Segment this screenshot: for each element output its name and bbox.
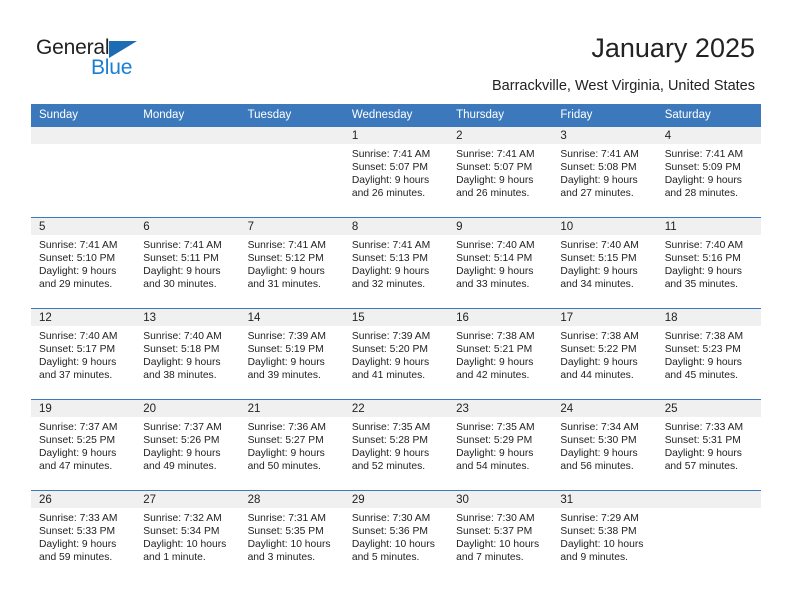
- calendar-cell: 8Sunrise: 7:41 AMSunset: 5:13 PMDaylight…: [344, 218, 448, 309]
- sunset-text: Sunset: 5:22 PM: [560, 343, 650, 356]
- day-cell[interactable]: 9Sunrise: 7:40 AMSunset: 5:14 PMDaylight…: [448, 218, 552, 308]
- logo-text-blue: Blue: [91, 56, 132, 80]
- daylight-text: Daylight: 9 hours: [352, 265, 442, 278]
- calendar-cell: 15Sunrise: 7:39 AMSunset: 5:20 PMDayligh…: [344, 309, 448, 400]
- day-number: 19: [31, 400, 135, 417]
- sunrise-text: Sunrise: 7:32 AM: [143, 512, 233, 525]
- calendar-cell: [240, 127, 344, 218]
- day-number: [240, 127, 344, 144]
- daylight-text-cont: and 34 minutes.: [560, 278, 650, 291]
- calendar-week-row: 19Sunrise: 7:37 AMSunset: 5:25 PMDayligh…: [31, 400, 761, 491]
- daylight-text: Daylight: 9 hours: [143, 265, 233, 278]
- day-cell-empty: [135, 127, 239, 217]
- weekday-header-thursday: Thursday: [448, 104, 552, 127]
- day-number: 15: [344, 309, 448, 326]
- day-cell-empty: [31, 127, 135, 217]
- weekday-header-monday: Monday: [135, 104, 239, 127]
- day-sun-info: Sunrise: 7:37 AMSunset: 5:25 PMDaylight:…: [31, 417, 135, 473]
- day-number: 3: [552, 127, 656, 144]
- daylight-text-cont: and 5 minutes.: [352, 551, 442, 564]
- daylight-text: Daylight: 9 hours: [248, 356, 338, 369]
- day-number: 9: [448, 218, 552, 235]
- sunset-text: Sunset: 5:10 PM: [39, 252, 129, 265]
- weekday-header-saturday: Saturday: [657, 104, 761, 127]
- day-sun-info: Sunrise: 7:30 AMSunset: 5:36 PMDaylight:…: [344, 508, 448, 564]
- day-sun-info: Sunrise: 7:33 AMSunset: 5:33 PMDaylight:…: [31, 508, 135, 564]
- sunset-text: Sunset: 5:12 PM: [248, 252, 338, 265]
- sunrise-text: Sunrise: 7:37 AM: [143, 421, 233, 434]
- daylight-text: Daylight: 9 hours: [665, 174, 755, 187]
- daylight-text-cont: and 47 minutes.: [39, 460, 129, 473]
- daylight-text-cont: and 30 minutes.: [143, 278, 233, 291]
- sunset-text: Sunset: 5:20 PM: [352, 343, 442, 356]
- day-cell[interactable]: 19Sunrise: 7:37 AMSunset: 5:25 PMDayligh…: [31, 400, 135, 490]
- day-number: 16: [448, 309, 552, 326]
- day-cell[interactable]: 7Sunrise: 7:41 AMSunset: 5:12 PMDaylight…: [240, 218, 344, 308]
- sunrise-text: Sunrise: 7:33 AM: [39, 512, 129, 525]
- daylight-text-cont: and 45 minutes.: [665, 369, 755, 382]
- calendar-cell: 31Sunrise: 7:29 AMSunset: 5:38 PMDayligh…: [552, 491, 656, 582]
- day-sun-info: Sunrise: 7:41 AMSunset: 5:07 PMDaylight:…: [448, 144, 552, 200]
- day-number: 13: [135, 309, 239, 326]
- day-sun-info: Sunrise: 7:41 AMSunset: 5:13 PMDaylight:…: [344, 235, 448, 291]
- sunrise-text: Sunrise: 7:40 AM: [143, 330, 233, 343]
- day-cell[interactable]: 30Sunrise: 7:30 AMSunset: 5:37 PMDayligh…: [448, 491, 552, 581]
- daylight-text-cont: and 31 minutes.: [248, 278, 338, 291]
- sunset-text: Sunset: 5:25 PM: [39, 434, 129, 447]
- weekday-header-wednesday: Wednesday: [344, 104, 448, 127]
- day-number: 11: [657, 218, 761, 235]
- day-number: 28: [240, 491, 344, 508]
- day-number: 8: [344, 218, 448, 235]
- sunrise-text: Sunrise: 7:35 AM: [456, 421, 546, 434]
- calendar-cell: 14Sunrise: 7:39 AMSunset: 5:19 PMDayligh…: [240, 309, 344, 400]
- day-sun-info: Sunrise: 7:32 AMSunset: 5:34 PMDaylight:…: [135, 508, 239, 564]
- daylight-text-cont: and 33 minutes.: [456, 278, 546, 291]
- day-cell[interactable]: 14Sunrise: 7:39 AMSunset: 5:19 PMDayligh…: [240, 309, 344, 399]
- sunset-text: Sunset: 5:37 PM: [456, 525, 546, 538]
- calendar-cell: 3Sunrise: 7:41 AMSunset: 5:08 PMDaylight…: [552, 127, 656, 218]
- day-sun-info: Sunrise: 7:38 AMSunset: 5:23 PMDaylight:…: [657, 326, 761, 382]
- sunrise-text: Sunrise: 7:37 AM: [39, 421, 129, 434]
- day-cell[interactable]: 1Sunrise: 7:41 AMSunset: 5:07 PMDaylight…: [344, 127, 448, 217]
- calendar-cell: 20Sunrise: 7:37 AMSunset: 5:26 PMDayligh…: [135, 400, 239, 491]
- day-cell[interactable]: 26Sunrise: 7:33 AMSunset: 5:33 PMDayligh…: [31, 491, 135, 581]
- daylight-text: Daylight: 10 hours: [143, 538, 233, 551]
- day-sun-info: Sunrise: 7:39 AMSunset: 5:19 PMDaylight:…: [240, 326, 344, 382]
- sunrise-sunset-calendar-table: Sunday Monday Tuesday Wednesday Thursday…: [31, 104, 761, 581]
- calendar-cell: 9Sunrise: 7:40 AMSunset: 5:14 PMDaylight…: [448, 218, 552, 309]
- day-cell[interactable]: 4Sunrise: 7:41 AMSunset: 5:09 PMDaylight…: [657, 127, 761, 217]
- daylight-text: Daylight: 9 hours: [560, 356, 650, 369]
- sunrise-text: Sunrise: 7:41 AM: [352, 148, 442, 161]
- sunrise-text: Sunrise: 7:36 AM: [248, 421, 338, 434]
- daylight-text-cont: and 29 minutes.: [39, 278, 129, 291]
- calendar-cell: 28Sunrise: 7:31 AMSunset: 5:35 PMDayligh…: [240, 491, 344, 582]
- weekday-header-friday: Friday: [552, 104, 656, 127]
- day-cell[interactable]: 28Sunrise: 7:31 AMSunset: 5:35 PMDayligh…: [240, 491, 344, 581]
- day-number: 31: [552, 491, 656, 508]
- sunrise-text: Sunrise: 7:40 AM: [665, 239, 755, 252]
- day-sun-info: Sunrise: 7:37 AMSunset: 5:26 PMDaylight:…: [135, 417, 239, 473]
- daylight-text: Daylight: 10 hours: [248, 538, 338, 551]
- day-number: 22: [344, 400, 448, 417]
- day-number: 6: [135, 218, 239, 235]
- sunrise-text: Sunrise: 7:30 AM: [352, 512, 442, 525]
- calendar-cell: 17Sunrise: 7:38 AMSunset: 5:22 PMDayligh…: [552, 309, 656, 400]
- daylight-text-cont: and 1 minute.: [143, 551, 233, 564]
- day-sun-info: Sunrise: 7:41 AMSunset: 5:10 PMDaylight:…: [31, 235, 135, 291]
- day-sun-info: Sunrise: 7:33 AMSunset: 5:31 PMDaylight:…: [657, 417, 761, 473]
- daylight-text: Daylight: 9 hours: [248, 265, 338, 278]
- sunrise-text: Sunrise: 7:41 AM: [665, 148, 755, 161]
- day-cell[interactable]: 17Sunrise: 7:38 AMSunset: 5:22 PMDayligh…: [552, 309, 656, 399]
- daylight-text: Daylight: 9 hours: [352, 174, 442, 187]
- sunrise-text: Sunrise: 7:41 AM: [143, 239, 233, 252]
- calendar-cell: 4Sunrise: 7:41 AMSunset: 5:09 PMDaylight…: [657, 127, 761, 218]
- daylight-text-cont: and 35 minutes.: [665, 278, 755, 291]
- daylight-text: Daylight: 9 hours: [39, 447, 129, 460]
- daylight-text: Daylight: 9 hours: [352, 447, 442, 460]
- day-cell-empty: [240, 127, 344, 217]
- sunset-text: Sunset: 5:07 PM: [456, 161, 546, 174]
- day-cell[interactable]: 11Sunrise: 7:40 AMSunset: 5:16 PMDayligh…: [657, 218, 761, 308]
- daylight-text: Daylight: 9 hours: [456, 447, 546, 460]
- day-sun-info: Sunrise: 7:41 AMSunset: 5:07 PMDaylight:…: [344, 144, 448, 200]
- sunrise-text: Sunrise: 7:41 AM: [560, 148, 650, 161]
- daylight-text: Daylight: 9 hours: [560, 174, 650, 187]
- calendar-cell: 25Sunrise: 7:33 AMSunset: 5:31 PMDayligh…: [657, 400, 761, 491]
- day-cell[interactable]: 2Sunrise: 7:41 AMSunset: 5:07 PMDaylight…: [448, 127, 552, 217]
- daylight-text-cont: and 56 minutes.: [560, 460, 650, 473]
- sunset-text: Sunset: 5:09 PM: [665, 161, 755, 174]
- sunrise-text: Sunrise: 7:38 AM: [665, 330, 755, 343]
- calendar-week-row: 12Sunrise: 7:40 AMSunset: 5:17 PMDayligh…: [31, 309, 761, 400]
- day-cell[interactable]: 31Sunrise: 7:29 AMSunset: 5:38 PMDayligh…: [552, 491, 656, 581]
- weekday-header-tuesday: Tuesday: [240, 104, 344, 127]
- sunset-text: Sunset: 5:34 PM: [143, 525, 233, 538]
- sunset-text: Sunset: 5:28 PM: [352, 434, 442, 447]
- day-number: 4: [657, 127, 761, 144]
- daylight-text-cont: and 50 minutes.: [248, 460, 338, 473]
- daylight-text-cont: and 28 minutes.: [665, 187, 755, 200]
- calendar-cell: 18Sunrise: 7:38 AMSunset: 5:23 PMDayligh…: [657, 309, 761, 400]
- calendar-cell: 24Sunrise: 7:34 AMSunset: 5:30 PMDayligh…: [552, 400, 656, 491]
- day-number: 27: [135, 491, 239, 508]
- calendar-cell: 27Sunrise: 7:32 AMSunset: 5:34 PMDayligh…: [135, 491, 239, 582]
- daylight-text: Daylight: 9 hours: [39, 538, 129, 551]
- sunrise-text: Sunrise: 7:39 AM: [352, 330, 442, 343]
- calendar-cell: 19Sunrise: 7:37 AMSunset: 5:25 PMDayligh…: [31, 400, 135, 491]
- day-number: 17: [552, 309, 656, 326]
- daylight-text: Daylight: 9 hours: [248, 447, 338, 460]
- day-cell[interactable]: 16Sunrise: 7:38 AMSunset: 5:21 PMDayligh…: [448, 309, 552, 399]
- weekday-header-row: Sunday Monday Tuesday Wednesday Thursday…: [31, 104, 761, 127]
- sunset-text: Sunset: 5:17 PM: [39, 343, 129, 356]
- calendar-cell: 11Sunrise: 7:40 AMSunset: 5:16 PMDayligh…: [657, 218, 761, 309]
- sunset-text: Sunset: 5:35 PM: [248, 525, 338, 538]
- sunset-text: Sunset: 5:26 PM: [143, 434, 233, 447]
- day-number: [657, 491, 761, 508]
- day-cell[interactable]: 27Sunrise: 7:32 AMSunset: 5:34 PMDayligh…: [135, 491, 239, 581]
- day-cell[interactable]: 5Sunrise: 7:41 AMSunset: 5:10 PMDaylight…: [31, 218, 135, 308]
- daylight-text-cont: and 3 minutes.: [248, 551, 338, 564]
- calendar-cell: 5Sunrise: 7:41 AMSunset: 5:10 PMDaylight…: [31, 218, 135, 309]
- day-cell[interactable]: 18Sunrise: 7:38 AMSunset: 5:23 PMDayligh…: [657, 309, 761, 399]
- daylight-text-cont: and 26 minutes.: [352, 187, 442, 200]
- sunrise-text: Sunrise: 7:30 AM: [456, 512, 546, 525]
- daylight-text-cont: and 44 minutes.: [560, 369, 650, 382]
- calendar-page: General Blue January 2025 Barrackville, …: [0, 0, 792, 612]
- sunrise-text: Sunrise: 7:29 AM: [560, 512, 650, 525]
- day-cell[interactable]: 20Sunrise: 7:37 AMSunset: 5:26 PMDayligh…: [135, 400, 239, 490]
- daylight-text-cont: and 32 minutes.: [352, 278, 442, 291]
- day-sun-info: Sunrise: 7:34 AMSunset: 5:30 PMDaylight:…: [552, 417, 656, 473]
- daylight-text: Daylight: 10 hours: [560, 538, 650, 551]
- daylight-text: Daylight: 9 hours: [665, 447, 755, 460]
- sunrise-text: Sunrise: 7:41 AM: [352, 239, 442, 252]
- day-sun-info: Sunrise: 7:40 AMSunset: 5:18 PMDaylight:…: [135, 326, 239, 382]
- day-cell[interactable]: 15Sunrise: 7:39 AMSunset: 5:20 PMDayligh…: [344, 309, 448, 399]
- daylight-text-cont: and 7 minutes.: [456, 551, 546, 564]
- daylight-text: Daylight: 9 hours: [143, 356, 233, 369]
- day-number: 25: [657, 400, 761, 417]
- sunrise-text: Sunrise: 7:41 AM: [248, 239, 338, 252]
- daylight-text: Daylight: 10 hours: [456, 538, 546, 551]
- daylight-text-cont: and 54 minutes.: [456, 460, 546, 473]
- daylight-text-cont: and 41 minutes.: [352, 369, 442, 382]
- daylight-text: Daylight: 9 hours: [143, 447, 233, 460]
- sunset-text: Sunset: 5:33 PM: [39, 525, 129, 538]
- sunset-text: Sunset: 5:18 PM: [143, 343, 233, 356]
- day-sun-info: Sunrise: 7:29 AMSunset: 5:38 PMDaylight:…: [552, 508, 656, 564]
- sunrise-text: Sunrise: 7:39 AM: [248, 330, 338, 343]
- day-sun-info: Sunrise: 7:40 AMSunset: 5:14 PMDaylight:…: [448, 235, 552, 291]
- day-cell[interactable]: 25Sunrise: 7:33 AMSunset: 5:31 PMDayligh…: [657, 400, 761, 490]
- daylight-text-cont: and 39 minutes.: [248, 369, 338, 382]
- day-number: [135, 127, 239, 144]
- day-number: 23: [448, 400, 552, 417]
- sunset-text: Sunset: 5:16 PM: [665, 252, 755, 265]
- daylight-text: Daylight: 9 hours: [456, 174, 546, 187]
- sunrise-text: Sunrise: 7:38 AM: [560, 330, 650, 343]
- sunset-text: Sunset: 5:21 PM: [456, 343, 546, 356]
- sunrise-text: Sunrise: 7:40 AM: [560, 239, 650, 252]
- sunrise-text: Sunrise: 7:38 AM: [456, 330, 546, 343]
- day-number: 1: [344, 127, 448, 144]
- sunrise-text: Sunrise: 7:34 AM: [560, 421, 650, 434]
- day-cell[interactable]: 24Sunrise: 7:34 AMSunset: 5:30 PMDayligh…: [552, 400, 656, 490]
- calendar-cell: 7Sunrise: 7:41 AMSunset: 5:12 PMDaylight…: [240, 218, 344, 309]
- day-cell[interactable]: 22Sunrise: 7:35 AMSunset: 5:28 PMDayligh…: [344, 400, 448, 490]
- sunset-text: Sunset: 5:07 PM: [352, 161, 442, 174]
- sunrise-text: Sunrise: 7:31 AM: [248, 512, 338, 525]
- day-number: 30: [448, 491, 552, 508]
- daylight-text-cont: and 26 minutes.: [456, 187, 546, 200]
- day-sun-info: Sunrise: 7:35 AMSunset: 5:29 PMDaylight:…: [448, 417, 552, 473]
- day-cell[interactable]: 10Sunrise: 7:40 AMSunset: 5:15 PMDayligh…: [552, 218, 656, 308]
- day-number: [31, 127, 135, 144]
- calendar-cell: 6Sunrise: 7:41 AMSunset: 5:11 PMDaylight…: [135, 218, 239, 309]
- calendar-cell: 16Sunrise: 7:38 AMSunset: 5:21 PMDayligh…: [448, 309, 552, 400]
- day-number: 2: [448, 127, 552, 144]
- sunrise-text: Sunrise: 7:41 AM: [456, 148, 546, 161]
- daylight-text-cont: and 38 minutes.: [143, 369, 233, 382]
- day-sun-info: Sunrise: 7:41 AMSunset: 5:08 PMDaylight:…: [552, 144, 656, 200]
- calendar-cell: [135, 127, 239, 218]
- calendar-cell: [657, 491, 761, 582]
- day-number: 24: [552, 400, 656, 417]
- calendar-week-row: 26Sunrise: 7:33 AMSunset: 5:33 PMDayligh…: [31, 491, 761, 582]
- day-sun-info: Sunrise: 7:40 AMSunset: 5:17 PMDaylight:…: [31, 326, 135, 382]
- sunset-text: Sunset: 5:30 PM: [560, 434, 650, 447]
- calendar-week-row: 1Sunrise: 7:41 AMSunset: 5:07 PMDaylight…: [31, 127, 761, 218]
- daylight-text-cont: and 52 minutes.: [352, 460, 442, 473]
- day-cell[interactable]: 23Sunrise: 7:35 AMSunset: 5:29 PMDayligh…: [448, 400, 552, 490]
- sunrise-text: Sunrise: 7:40 AM: [456, 239, 546, 252]
- day-number: 12: [31, 309, 135, 326]
- day-cell[interactable]: 6Sunrise: 7:41 AMSunset: 5:11 PMDaylight…: [135, 218, 239, 308]
- day-sun-info: Sunrise: 7:41 AMSunset: 5:09 PMDaylight:…: [657, 144, 761, 200]
- sunset-text: Sunset: 5:19 PM: [248, 343, 338, 356]
- calendar-cell: 21Sunrise: 7:36 AMSunset: 5:27 PMDayligh…: [240, 400, 344, 491]
- daylight-text: Daylight: 10 hours: [352, 538, 442, 551]
- daylight-text: Daylight: 9 hours: [456, 265, 546, 278]
- sunrise-text: Sunrise: 7:40 AM: [39, 330, 129, 343]
- daylight-text-cont: and 59 minutes.: [39, 551, 129, 564]
- day-sun-info: Sunrise: 7:40 AMSunset: 5:15 PMDaylight:…: [552, 235, 656, 291]
- day-sun-info: Sunrise: 7:35 AMSunset: 5:28 PMDaylight:…: [344, 417, 448, 473]
- calendar-cell: 23Sunrise: 7:35 AMSunset: 5:29 PMDayligh…: [448, 400, 552, 491]
- day-number: 20: [135, 400, 239, 417]
- day-sun-info: Sunrise: 7:31 AMSunset: 5:35 PMDaylight:…: [240, 508, 344, 564]
- page-header: General Blue January 2025 Barrackville, …: [0, 0, 792, 100]
- sunset-text: Sunset: 5:13 PM: [352, 252, 442, 265]
- sunset-text: Sunset: 5:31 PM: [665, 434, 755, 447]
- day-number: 18: [657, 309, 761, 326]
- daylight-text: Daylight: 9 hours: [665, 356, 755, 369]
- sunset-text: Sunset: 5:23 PM: [665, 343, 755, 356]
- day-sun-info: Sunrise: 7:38 AMSunset: 5:21 PMDaylight:…: [448, 326, 552, 382]
- sunrise-text: Sunrise: 7:41 AM: [39, 239, 129, 252]
- daylight-text-cont: and 57 minutes.: [665, 460, 755, 473]
- daylight-text: Daylight: 9 hours: [39, 356, 129, 369]
- daylight-text-cont: and 9 minutes.: [560, 551, 650, 564]
- page-subtitle-location: Barrackville, West Virginia, United Stat…: [492, 78, 755, 94]
- day-cell[interactable]: 12Sunrise: 7:40 AMSunset: 5:17 PMDayligh…: [31, 309, 135, 399]
- daylight-text-cont: and 27 minutes.: [560, 187, 650, 200]
- calendar-week-row: 5Sunrise: 7:41 AMSunset: 5:10 PMDaylight…: [31, 218, 761, 309]
- day-sun-info: Sunrise: 7:39 AMSunset: 5:20 PMDaylight:…: [344, 326, 448, 382]
- sunset-text: Sunset: 5:27 PM: [248, 434, 338, 447]
- calendar-cell: 13Sunrise: 7:40 AMSunset: 5:18 PMDayligh…: [135, 309, 239, 400]
- day-sun-info: Sunrise: 7:41 AMSunset: 5:12 PMDaylight:…: [240, 235, 344, 291]
- sunset-text: Sunset: 5:36 PM: [352, 525, 442, 538]
- daylight-text-cont: and 49 minutes.: [143, 460, 233, 473]
- day-sun-info: Sunrise: 7:38 AMSunset: 5:22 PMDaylight:…: [552, 326, 656, 382]
- day-cell[interactable]: 8Sunrise: 7:41 AMSunset: 5:13 PMDaylight…: [344, 218, 448, 308]
- day-number: 21: [240, 400, 344, 417]
- daylight-text: Daylight: 9 hours: [456, 356, 546, 369]
- daylight-text: Daylight: 9 hours: [39, 265, 129, 278]
- day-cell[interactable]: 29Sunrise: 7:30 AMSunset: 5:36 PMDayligh…: [344, 491, 448, 581]
- sunset-text: Sunset: 5:15 PM: [560, 252, 650, 265]
- daylight-text-cont: and 37 minutes.: [39, 369, 129, 382]
- calendar-cell: 1Sunrise: 7:41 AMSunset: 5:07 PMDaylight…: [344, 127, 448, 218]
- day-number: 5: [31, 218, 135, 235]
- calendar-cell: [31, 127, 135, 218]
- daylight-text: Daylight: 9 hours: [560, 265, 650, 278]
- daylight-text-cont: and 42 minutes.: [456, 369, 546, 382]
- day-number: 7: [240, 218, 344, 235]
- calendar-body: 1Sunrise: 7:41 AMSunset: 5:07 PMDaylight…: [31, 127, 761, 582]
- day-sun-info: Sunrise: 7:41 AMSunset: 5:11 PMDaylight:…: [135, 235, 239, 291]
- day-sun-info: Sunrise: 7:40 AMSunset: 5:16 PMDaylight:…: [657, 235, 761, 291]
- day-cell[interactable]: 21Sunrise: 7:36 AMSunset: 5:27 PMDayligh…: [240, 400, 344, 490]
- day-cell-empty: [657, 491, 761, 581]
- daylight-text: Daylight: 9 hours: [352, 356, 442, 369]
- calendar-cell: 10Sunrise: 7:40 AMSunset: 5:15 PMDayligh…: [552, 218, 656, 309]
- sunset-text: Sunset: 5:38 PM: [560, 525, 650, 538]
- day-number: 10: [552, 218, 656, 235]
- calendar-cell: 2Sunrise: 7:41 AMSunset: 5:07 PMDaylight…: [448, 127, 552, 218]
- sunrise-text: Sunrise: 7:35 AM: [352, 421, 442, 434]
- daylight-text: Daylight: 9 hours: [560, 447, 650, 460]
- day-number: 26: [31, 491, 135, 508]
- day-sun-info: Sunrise: 7:36 AMSunset: 5:27 PMDaylight:…: [240, 417, 344, 473]
- calendar-cell: 12Sunrise: 7:40 AMSunset: 5:17 PMDayligh…: [31, 309, 135, 400]
- day-cell[interactable]: 3Sunrise: 7:41 AMSunset: 5:08 PMDaylight…: [552, 127, 656, 217]
- page-title: January 2025: [591, 33, 755, 64]
- sunset-text: Sunset: 5:08 PM: [560, 161, 650, 174]
- general-blue-logo: General Blue: [36, 36, 166, 86]
- calendar-cell: 30Sunrise: 7:30 AMSunset: 5:37 PMDayligh…: [448, 491, 552, 582]
- weekday-header-sunday: Sunday: [31, 104, 135, 127]
- day-number: 29: [344, 491, 448, 508]
- calendar-cell: 26Sunrise: 7:33 AMSunset: 5:33 PMDayligh…: [31, 491, 135, 582]
- sunset-text: Sunset: 5:14 PM: [456, 252, 546, 265]
- calendar-cell: 22Sunrise: 7:35 AMSunset: 5:28 PMDayligh…: [344, 400, 448, 491]
- day-number: 14: [240, 309, 344, 326]
- sunset-text: Sunset: 5:29 PM: [456, 434, 546, 447]
- daylight-text: Daylight: 9 hours: [665, 265, 755, 278]
- sunset-text: Sunset: 5:11 PM: [143, 252, 233, 265]
- day-sun-info: Sunrise: 7:30 AMSunset: 5:37 PMDaylight:…: [448, 508, 552, 564]
- day-cell[interactable]: 13Sunrise: 7:40 AMSunset: 5:18 PMDayligh…: [135, 309, 239, 399]
- calendar-cell: 29Sunrise: 7:30 AMSunset: 5:36 PMDayligh…: [344, 491, 448, 582]
- sunrise-text: Sunrise: 7:33 AM: [665, 421, 755, 434]
